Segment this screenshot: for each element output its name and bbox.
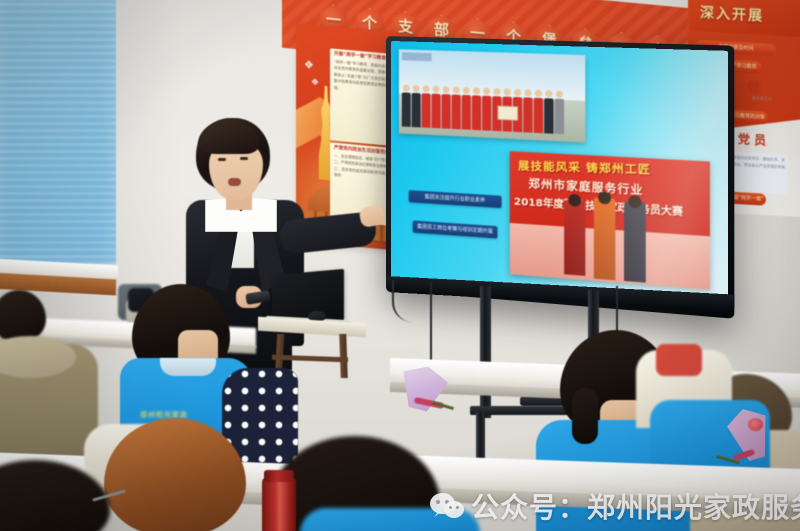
campaign-headline: 深入开展 [700, 2, 764, 26]
table-leg-right [339, 334, 348, 378]
photo-scene: ☭ 一 个 支 部 一 个 堡 垒 一 个 党 员 ❖ ❖ 开展“两学一做”学习… [0, 0, 800, 531]
attendee-red-scarf [656, 344, 702, 376]
presenter-eye-right [240, 157, 248, 160]
watermark: 公众号：郑州阳光家政服务公司 [430, 486, 800, 526]
window-blind-texture [0, 0, 116, 264]
presentation-display[interactable]: 展技能风采 铸郑州工匠 郑州市家庭服务行业 2018年度职业技能家政服务员大赛 … [391, 41, 728, 308]
presenter-eye-left [218, 158, 226, 161]
dove-icon: ❖ [304, 58, 314, 72]
wechat-icon [430, 493, 464, 520]
watermark-text: 公众号：郑州阳光家政服务公司 [471, 486, 800, 526]
attendee-ponytail [572, 388, 598, 444]
dove-icon: ❖ [311, 77, 319, 89]
rose-bloom [748, 418, 763, 431]
tv-stand-post-left [480, 286, 491, 418]
campaign-caption-right: 做合格党员 [752, 95, 772, 102]
red-thermos[interactable] [262, 478, 296, 531]
attendee-collar-center [160, 358, 216, 376]
thermos-cap[interactable] [264, 470, 294, 482]
presenter-mouth [228, 178, 241, 186]
